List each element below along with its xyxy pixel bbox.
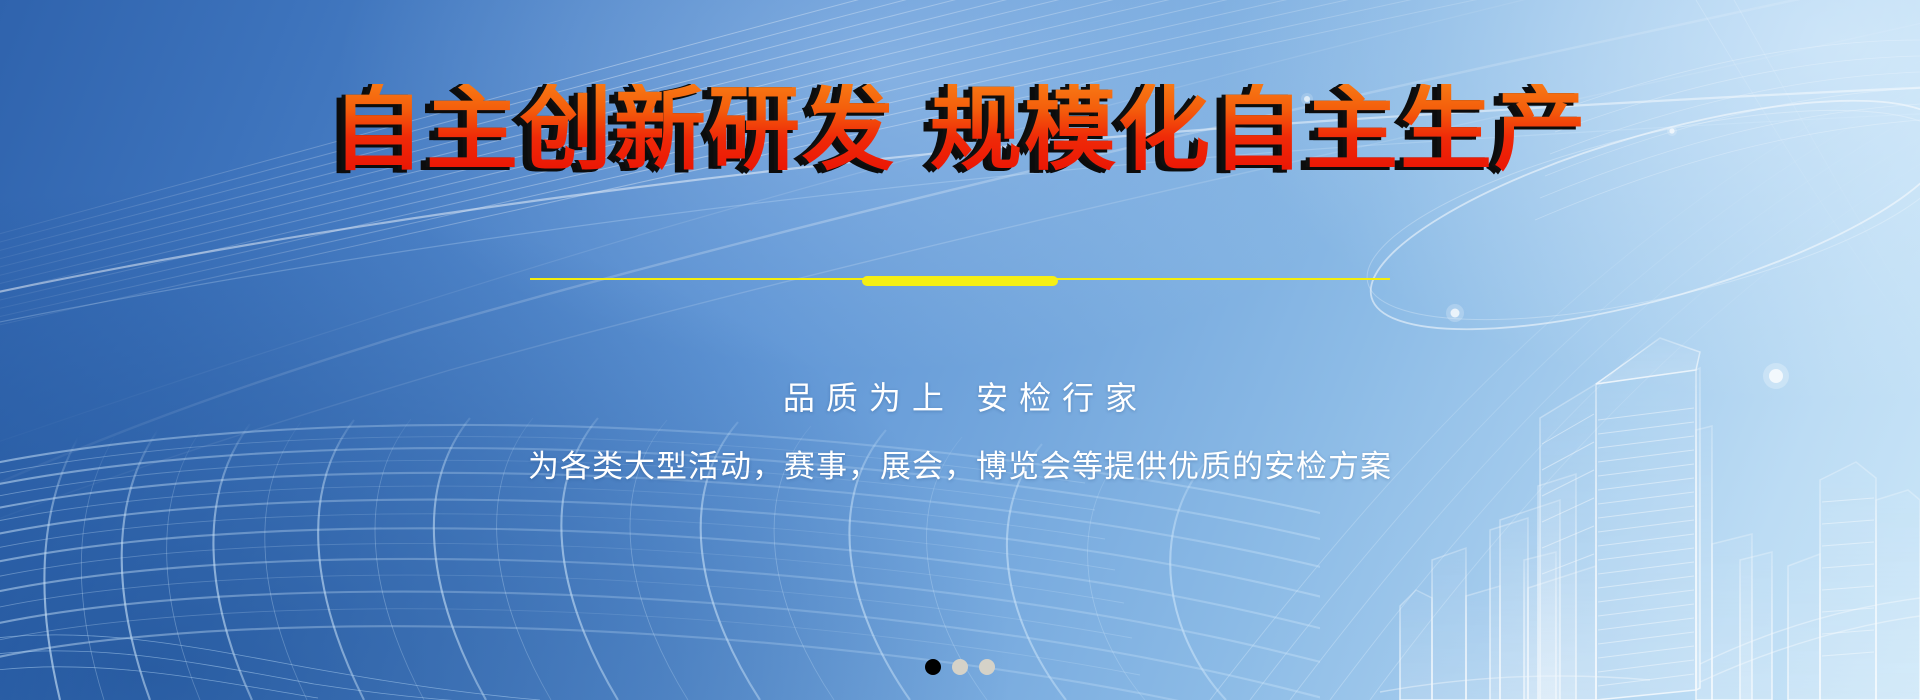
subtitle-secondary: 为各类大型活动，赛事，展会，博览会等提供优质的安检方案 — [0, 441, 1920, 486]
carousel-dot-3[interactable] — [979, 659, 995, 675]
subtitle-primary: 品质为上 安检行家 — [0, 373, 1920, 419]
hero-banner: 自主创新研发 规模化自主生产 品质为上 安检行家 为各类大型活动，赛事，展会，博… — [0, 0, 1920, 700]
yellow-divider — [530, 276, 1390, 282]
divider-thick-segment — [862, 276, 1058, 286]
page-title: 自主创新研发 规模化自主生产 — [0, 84, 1920, 176]
carousel-pagination[interactable] — [925, 659, 995, 675]
carousel-dot-1[interactable] — [925, 659, 941, 675]
carousel-dot-2[interactable] — [952, 659, 968, 675]
banner-content: 自主创新研发 规模化自主生产 品质为上 安检行家 为各类大型活动，赛事，展会，博… — [0, 0, 1920, 700]
